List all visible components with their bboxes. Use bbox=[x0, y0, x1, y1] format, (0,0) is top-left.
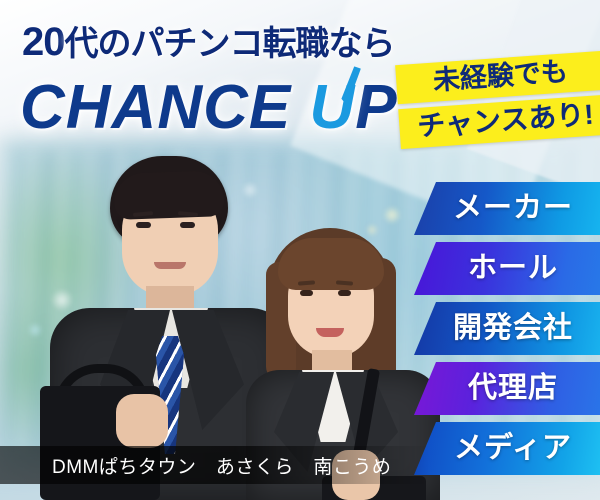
category-label-hall: ホール bbox=[414, 254, 600, 283]
category-button-hall[interactable]: ホール bbox=[414, 242, 600, 295]
logo-letter-u: U bbox=[309, 72, 355, 143]
category-button-media[interactable]: メディア bbox=[414, 422, 600, 475]
category-label-developer: 開発会社 bbox=[414, 314, 600, 343]
category-label-media: メディア bbox=[414, 434, 600, 463]
male-eye-left bbox=[136, 222, 151, 228]
headline-prefix: 20 bbox=[22, 20, 65, 64]
category-label-agency: 代理店 bbox=[414, 374, 600, 403]
headline-rest: 代のパチンコ転職なら bbox=[65, 25, 395, 63]
category-label-maker: メーカー bbox=[414, 194, 600, 223]
chance-up-logo: CHANCE UP bbox=[20, 72, 398, 143]
logo-word-chance: CHANCE bbox=[20, 73, 291, 142]
female-eye-left bbox=[300, 290, 313, 296]
category-button-developer[interactable]: 開発会社 bbox=[414, 302, 600, 355]
male-eye-right bbox=[180, 222, 195, 228]
badge-line-2: チャンスあり! bbox=[398, 95, 600, 149]
female-fringe bbox=[278, 238, 384, 290]
male-fringe bbox=[113, 170, 225, 220]
male-hand bbox=[116, 394, 168, 448]
female-eye-right bbox=[338, 290, 351, 296]
category-button-maker[interactable]: メーカー bbox=[414, 182, 600, 235]
experience-badge: 未経験でも チャンスあり! bbox=[395, 51, 600, 154]
caption-text: DMMぱちタウン あさくら 南こうめ bbox=[0, 452, 391, 479]
headline: 20代のパチンコ転職なら bbox=[22, 16, 395, 65]
category-list: メーカー ホール 開発会社 代理店 メディア bbox=[414, 182, 600, 482]
ad-banner[interactable]: 20代のパチンコ転職なら CHANCE UP 未経験でも チャンスあり! メーカ… bbox=[0, 0, 600, 500]
category-button-agency[interactable]: 代理店 bbox=[414, 362, 600, 415]
logo-letter-p: P bbox=[355, 73, 397, 142]
caption-bar: DMMぱちタウン あさくら 南こうめ bbox=[0, 446, 430, 484]
male-mouth bbox=[154, 262, 186, 269]
